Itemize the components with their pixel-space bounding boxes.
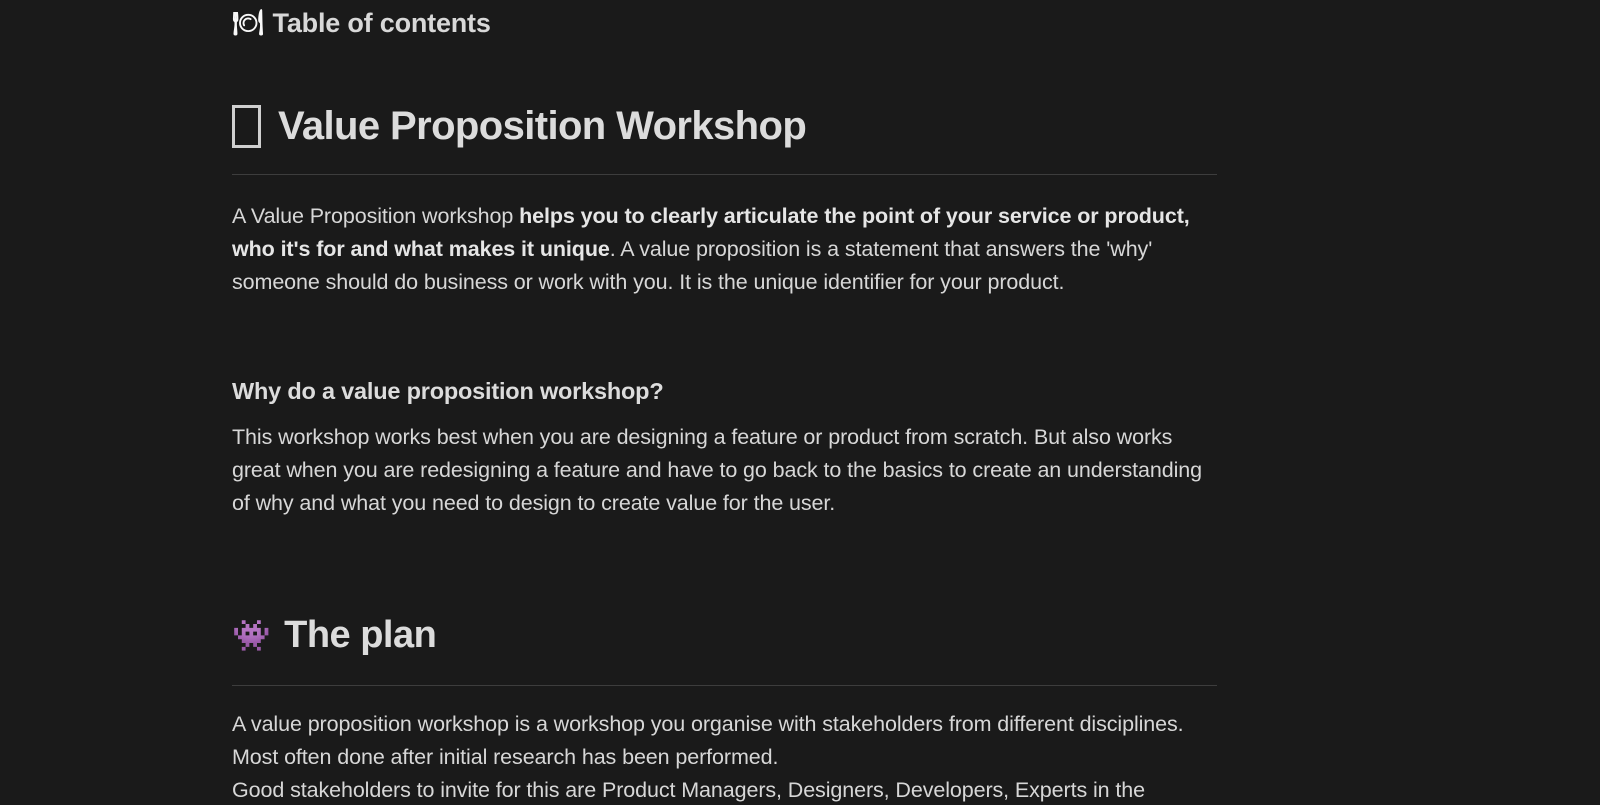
section-paragraph-why: This workshop works best when you are de…	[232, 407, 1217, 520]
page-title-label: Value Proposition Workshop	[278, 103, 806, 150]
document-page: 🍽 Table of contents Value Proposition Wo…	[0, 0, 1600, 805]
document-content: 🍽 Table of contents Value Proposition Wo…	[232, 0, 1217, 805]
alien-monster-icon: 👾	[232, 620, 270, 651]
table-of-contents-heading: 🍽 Table of contents	[232, 0, 1217, 41]
missing-glyph-box-icon	[232, 105, 261, 148]
fork-knife-plate-icon: 🍽	[232, 11, 264, 36]
intro-paragraph: A Value Proposition workshop helps you t…	[232, 175, 1217, 299]
plan-title: 👾 The plan	[232, 520, 1217, 658]
intro-lead: A Value Proposition workshop	[232, 204, 519, 228]
section-heading-why: Why do a value proposition workshop?	[232, 299, 1217, 407]
table-of-contents-label: Table of contents	[273, 6, 491, 41]
plan-title-label: The plan	[284, 613, 436, 658]
page-title: Value Proposition Workshop	[232, 41, 1217, 150]
plan-paragraph-1: A value proposition workshop is a worksh…	[232, 686, 1217, 774]
plan-paragraph-2: Good stakeholders to invite for this are…	[232, 774, 1217, 805]
